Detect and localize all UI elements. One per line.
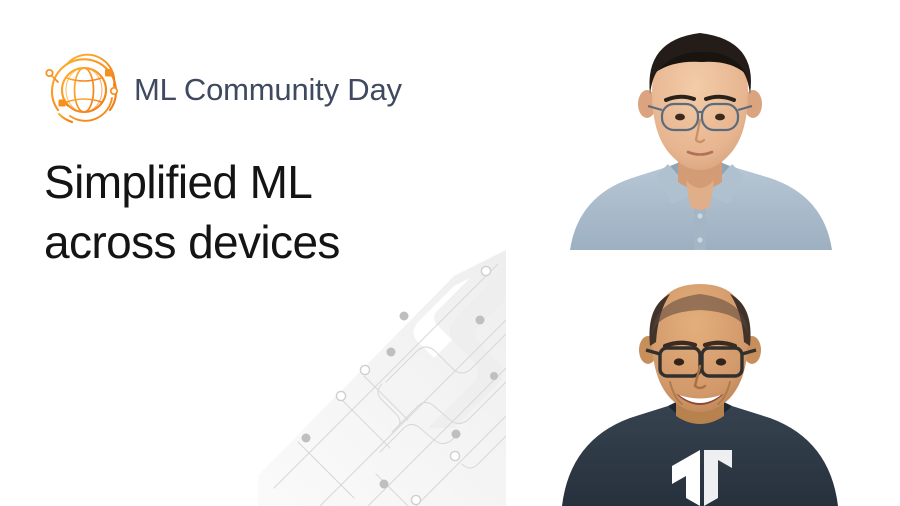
circuit-node (302, 312, 499, 489)
brand-name: ML Community Day (134, 74, 402, 105)
circuit-node-hollow (336, 266, 490, 504)
speaker-portrait-top (552, 0, 848, 250)
circuit-board-graphic (258, 250, 506, 506)
brand-lockup: ML Community Day (38, 44, 402, 134)
headline-line-1: Simplified ML (44, 152, 504, 212)
headline-line-2: across devices (44, 212, 504, 272)
speaker-portrait-bottom (552, 254, 848, 506)
page-title: Simplified ML across devices (44, 152, 504, 272)
globe-orbit-icon (38, 44, 126, 134)
presentation-slide: ML Community Day Simplified ML across de… (0, 0, 900, 506)
